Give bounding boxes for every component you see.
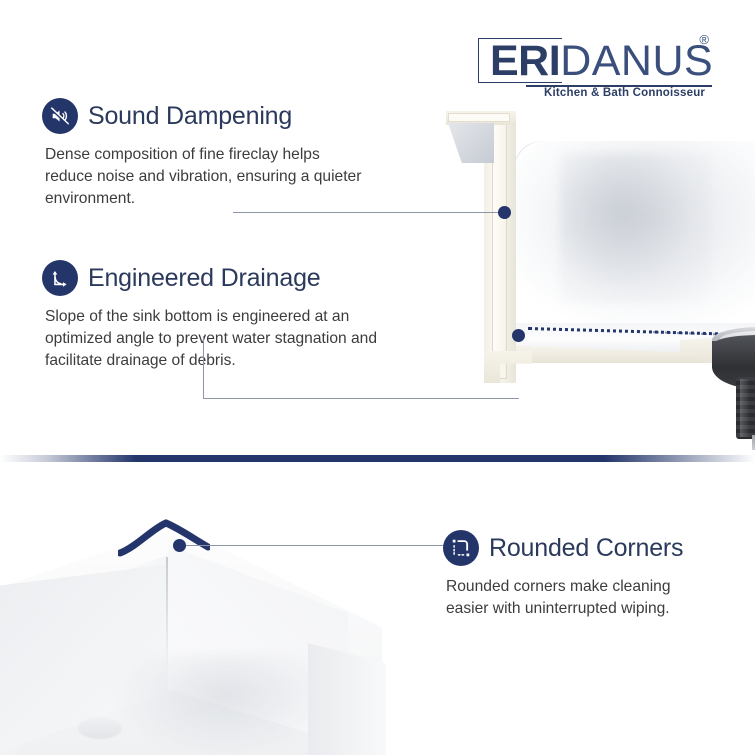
feature-heading-row: Engineered Drainage	[42, 260, 387, 296]
callout-line-sound-dampening	[233, 212, 505, 213]
basin-floor-fixture	[78, 717, 122, 739]
feature-description: Dense composition of fine fireclay helps…	[45, 144, 367, 210]
slope-angle-arrows-icon	[42, 260, 78, 296]
rounded-corner-highlight-stroke	[118, 517, 210, 559]
registered-trademark-icon: ®	[699, 32, 709, 47]
feature-title: Engineered Drainage	[88, 264, 320, 293]
speaker-mute-icon	[42, 98, 78, 134]
callout-dot-sound-dampening	[498, 206, 511, 219]
callout-dot-engineered-drainage	[512, 329, 525, 342]
basin-corner-seam	[166, 557, 168, 669]
feature-title: Sound Dampening	[88, 102, 292, 131]
apron-corner-wedge	[448, 123, 494, 163]
callout-dot-rounded-corners	[173, 539, 186, 552]
brand-logo: ERIDANUS ® Kitchen & Bath Connoisseur	[478, 32, 713, 104]
section-divider	[0, 455, 755, 462]
logo-word-eri: ERI	[490, 37, 560, 85]
feature-rounded-corners: Rounded Corners Rounded corners make cle…	[443, 530, 733, 620]
logo-word-danus: DANUS	[560, 37, 713, 85]
rounded-corner-dashed-square-icon	[443, 530, 479, 566]
drain-tailpiece-highlight	[740, 379, 750, 437]
feature-sound-dampening: Sound Dampening Dense composition of fin…	[42, 98, 372, 210]
logo-tagline: Kitchen & Bath Connoisseur	[544, 87, 705, 99]
feature-heading-row: Sound Dampening	[42, 98, 372, 134]
callout-line-engineered-drainage	[203, 336, 519, 399]
feature-title: Rounded Corners	[489, 534, 683, 563]
basin-floor-shading	[110, 655, 340, 755]
feature-description: Rounded corners make cleaning easier wit…	[446, 576, 714, 620]
callout-line-rounded-corners	[184, 545, 449, 546]
sink-corner-closeup-image	[0, 505, 390, 755]
logo-wordmark: ERIDANUS	[490, 40, 713, 83]
feature-heading-row: Rounded Corners	[443, 530, 733, 566]
apron-top-lip-inner	[448, 113, 510, 122]
infographic-page: ERIDANUS ® Kitchen & Bath Connoisseur	[0, 0, 755, 755]
basin-interior-shading	[560, 153, 710, 303]
